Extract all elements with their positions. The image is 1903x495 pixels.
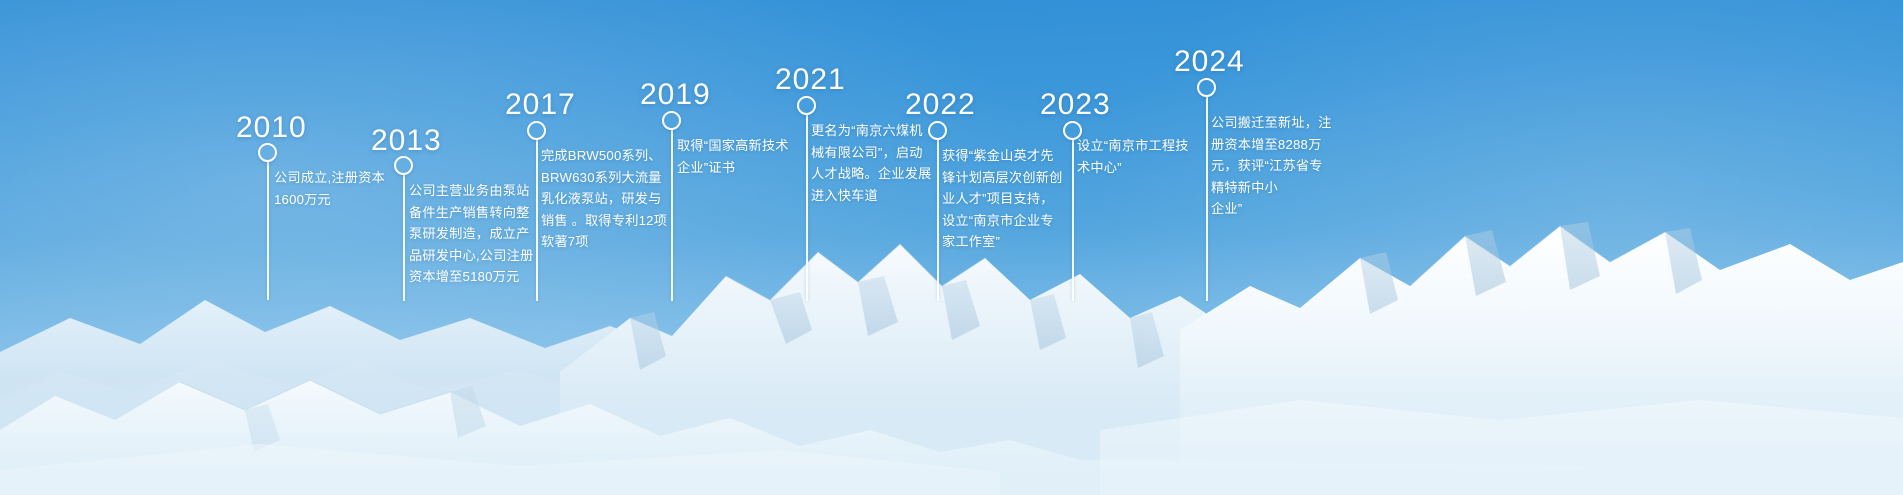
milestone-stem-line <box>403 173 405 301</box>
milestone-marker-dot[interactable] <box>662 111 681 130</box>
milestone-marker-dot[interactable] <box>928 121 947 140</box>
milestone-marker-dot[interactable] <box>258 143 277 162</box>
milestone-marker-dot[interactable] <box>394 156 413 175</box>
milestone-year-label: 2021 <box>775 63 846 97</box>
milestone-description: 公司搬迁至新址，注 册资本增至8288万 元，获评“江苏省专 精特新中小 企业” <box>1211 112 1371 220</box>
milestone-year-label: 2019 <box>640 78 711 112</box>
milestone-year-label: 2023 <box>1040 88 1111 122</box>
milestone-stem-line <box>267 160 269 300</box>
company-milestone-timeline: 2010公司成立,注册资本 1600万元2013公司主营业务由泵站 备件生产销售… <box>0 0 1903 495</box>
milestone-stem-line <box>937 138 939 301</box>
milestone-year-label: 2024 <box>1174 45 1245 79</box>
milestone-stem-line <box>671 128 673 301</box>
milestone-stem-line <box>806 113 808 301</box>
milestone-year-label: 2010 <box>236 111 307 145</box>
milestone-marker-dot[interactable] <box>797 96 816 115</box>
milestone-stem-line <box>536 138 538 301</box>
milestone-stem-line <box>1206 95 1208 301</box>
milestone-year-label: 2013 <box>371 124 442 158</box>
milestone-stem-line <box>1072 138 1074 301</box>
milestone-year-label: 2017 <box>505 88 576 122</box>
milestone-marker-dot[interactable] <box>1197 78 1216 97</box>
milestone-year-label: 2022 <box>905 88 976 122</box>
milestone-marker-dot[interactable] <box>527 121 546 140</box>
